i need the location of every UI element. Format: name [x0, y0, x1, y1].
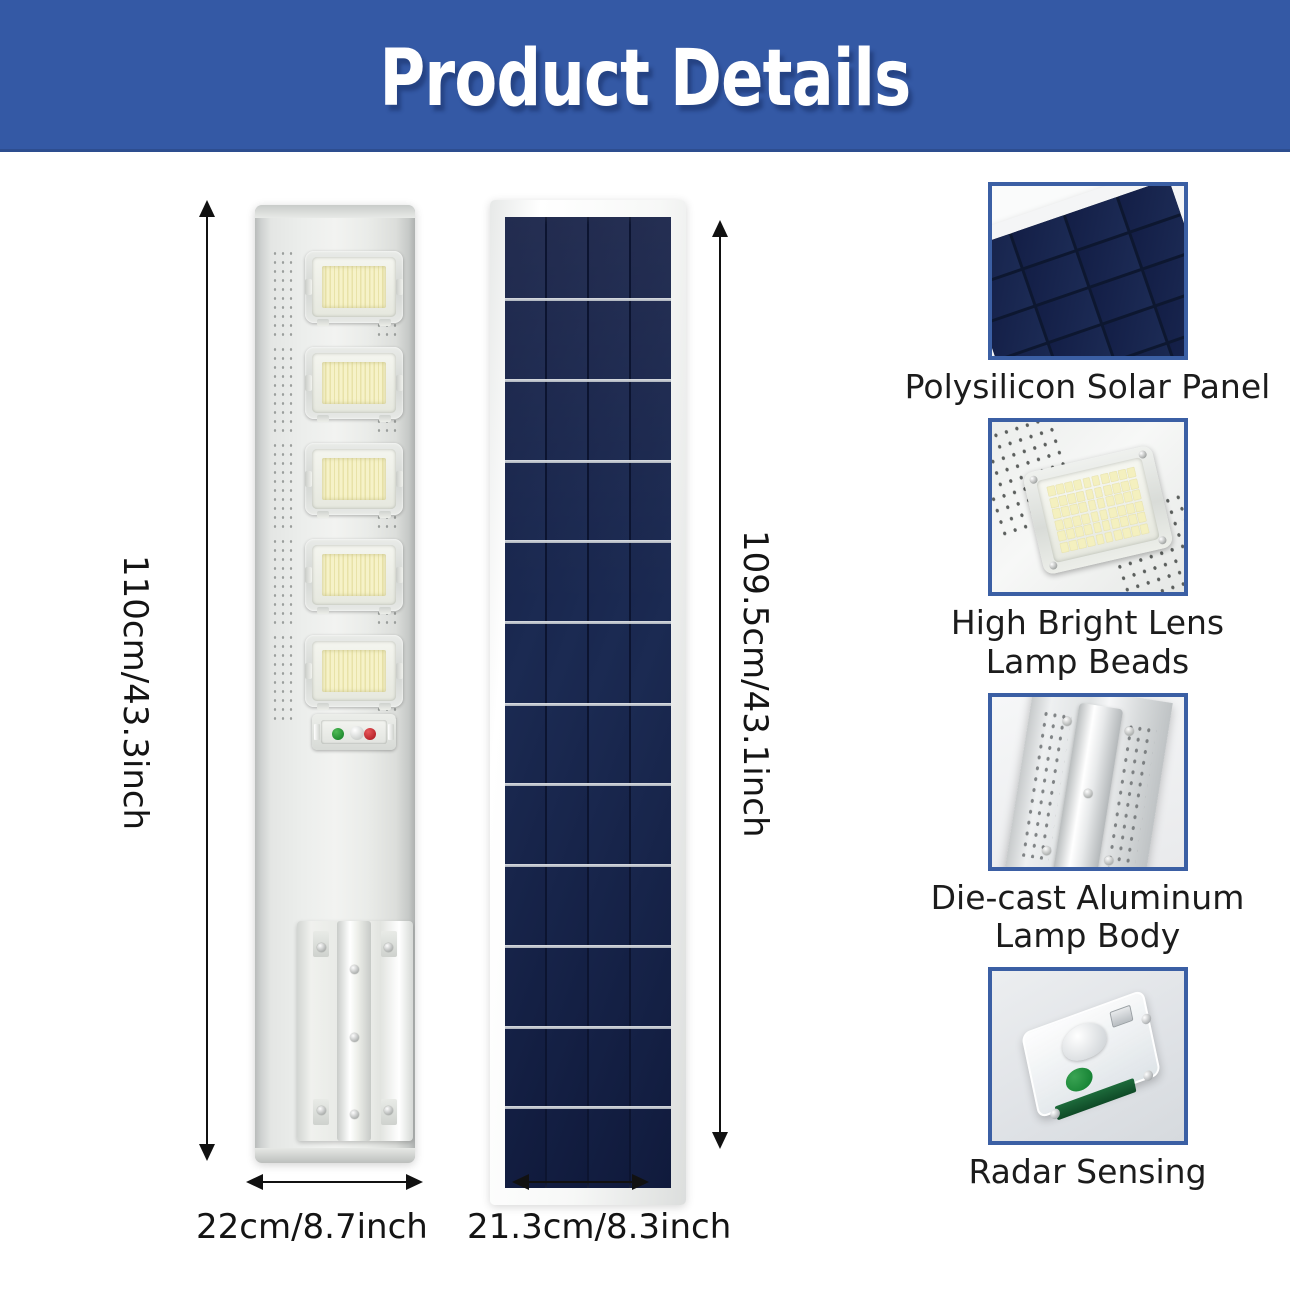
panel-height-line	[719, 234, 721, 1136]
lamp-bottom-edge	[255, 1148, 415, 1163]
vent-dots-left-2	[271, 345, 297, 433]
led-lens-3	[312, 449, 396, 509]
bracket-center-rail	[337, 921, 371, 1141]
lamp-height-label: 110cm/43.3inch	[115, 555, 155, 830]
feature-caption: Polysilicon Solar Panel	[895, 368, 1280, 406]
lamp-width-arrow-right	[406, 1174, 423, 1190]
led-beads-4	[322, 554, 386, 596]
feature-high-bright-lens-lamp-beads[interactable]: High Bright Lens Lamp Beads	[895, 418, 1280, 681]
sensor-dome-icon	[1059, 1017, 1109, 1066]
lamp-height-line	[206, 214, 208, 1148]
panel-height-label: 109.5cm/43.1inch	[735, 530, 775, 838]
sensor-screw-right	[1140, 1013, 1151, 1026]
led-module-3	[305, 443, 403, 515]
lamp-width-line	[260, 1181, 410, 1183]
lamp-body-illustration	[255, 205, 415, 1163]
led-lamp-beads-photo-icon[interactable]	[988, 418, 1188, 596]
led-lens-5	[312, 641, 396, 701]
led-lens-4	[312, 545, 396, 605]
solar-busbar	[505, 1026, 671, 1029]
bracket-screw-3	[350, 965, 359, 974]
vent-dots-left-1	[271, 249, 297, 337]
led-screw-bottom-left	[1048, 561, 1058, 571]
panel-height-arrow-bottom	[712, 1132, 728, 1149]
page-title: Product Details	[129, 34, 1161, 124]
bracket-screw-6	[350, 1110, 359, 1119]
led-module-5	[305, 635, 403, 707]
radar-sensor-photo-icon[interactable]	[988, 967, 1188, 1145]
solar-busbar	[505, 460, 671, 463]
lamp-width-label: 22cm/8.7inch	[196, 1207, 428, 1247]
indicator-side-clip-left	[314, 724, 320, 740]
bracket-screw-4	[350, 1033, 359, 1042]
feature-caption-line: Polysilicon Solar Panel	[895, 368, 1280, 406]
led-lens	[1035, 457, 1159, 563]
mounting-bracket	[297, 921, 413, 1141]
sensor-green-button	[1063, 1064, 1094, 1095]
green-indicator-icon	[332, 728, 344, 740]
solar-busbar	[505, 703, 671, 706]
led-clip-left-1	[305, 279, 312, 295]
feature-caption: Die-cast Aluminum Lamp Body	[895, 879, 1280, 956]
panel-width-line	[526, 1181, 636, 1183]
header-banner: Product Details	[0, 0, 1290, 152]
led-beads-5	[322, 650, 386, 692]
solar-busbar	[505, 864, 671, 867]
solar-busbar	[505, 379, 671, 382]
vent-dots-left-5	[271, 633, 297, 721]
feature-die-cast-aluminum-lamp-body[interactable]: Die-cast Aluminum Lamp Body	[895, 693, 1280, 956]
solar-panel-cell-grid	[505, 217, 671, 1188]
led-foot-right-4	[379, 607, 391, 614]
led-clip-right-4	[396, 567, 403, 583]
led-foot-right-1	[379, 319, 391, 326]
lamp-height-arrow-bottom	[199, 1144, 215, 1161]
solar-panel-photo-icon[interactable]	[988, 182, 1188, 360]
sensor-dome-icon	[350, 726, 364, 740]
feature-caption: Radar Sensing	[895, 1153, 1280, 1191]
solar-panel-illustration	[490, 200, 686, 1205]
led-clip-left-5	[305, 663, 312, 679]
solar-busbar	[505, 945, 671, 948]
feature-caption-line: High Bright Lens	[895, 604, 1280, 642]
led-module-1	[305, 251, 403, 323]
bracket-screw-5	[317, 1106, 326, 1115]
feature-radar-sensing[interactable]: Radar Sensing	[895, 967, 1280, 1191]
led-foot-left-5	[317, 703, 329, 710]
led-clip-left-4	[305, 567, 312, 583]
feature-caption-line: Lamp Body	[895, 917, 1280, 955]
led-module-2	[305, 347, 403, 419]
led-beads-2	[322, 362, 386, 404]
led-foot-left-3	[317, 511, 329, 518]
led-beads-3	[322, 458, 386, 500]
vent-dots-left-3	[271, 441, 297, 529]
bracket-screw-7	[384, 1106, 393, 1115]
bracket-screw-2	[384, 943, 393, 952]
feature-polysilicon-solar-panel[interactable]: Polysilicon Solar Panel	[895, 182, 1280, 406]
product-diagram-stage: 110cm/43.3inch 109.5cm/43.1inch 22cm/8.7…	[0, 152, 1290, 1311]
led-foot-right-5	[379, 703, 391, 710]
sensor-chip	[1109, 1005, 1133, 1028]
led-clip-right-5	[396, 663, 403, 679]
led-bead-grid	[1046, 467, 1149, 554]
led-clip-right-1	[396, 279, 403, 295]
led-foot-left-1	[317, 319, 329, 326]
solar-busbar	[505, 1106, 671, 1109]
led-foot-right-3	[379, 511, 391, 518]
aluminum-body-graphic	[1003, 693, 1173, 871]
bracket-screw-1	[317, 943, 326, 952]
lamp-top-edge	[255, 205, 415, 218]
aluminum-lamp-body-photo-icon[interactable]	[988, 693, 1188, 871]
solar-busbar	[505, 540, 671, 543]
led-lens-1	[312, 257, 396, 317]
solar-busbar	[505, 298, 671, 301]
led-clip-left-3	[305, 471, 312, 487]
solar-busbar	[505, 783, 671, 786]
feature-caption-line: Radar Sensing	[895, 1153, 1280, 1191]
feature-caption: High Bright Lens Lamp Beads	[895, 604, 1280, 681]
led-foot-right-2	[379, 415, 391, 422]
feature-list: Polysilicon Solar Panel	[895, 182, 1280, 1204]
led-lens-2	[312, 353, 396, 413]
feature-caption-line: Lamp Beads	[895, 643, 1280, 681]
led-clip-right-2	[396, 375, 403, 391]
panel-width-arrow-right	[632, 1174, 649, 1190]
led-foot-left-2	[317, 415, 329, 422]
led-clip-right-3	[396, 471, 403, 487]
indicator-control-module	[312, 714, 396, 750]
feature-caption-line: Die-cast Aluminum	[895, 879, 1280, 917]
led-clip-left-2	[305, 375, 312, 391]
led-screw-bottom-right	[1157, 536, 1167, 546]
led-beads-1	[322, 266, 386, 308]
indicator-side-clip-right	[388, 724, 394, 740]
panel-width-label: 21.3cm/8.3inch	[467, 1207, 731, 1247]
led-module-4	[305, 539, 403, 611]
led-foot-left-4	[317, 607, 329, 614]
vent-dots-left-4	[271, 537, 297, 625]
solar-busbar	[505, 621, 671, 624]
red-indicator-icon	[364, 728, 376, 740]
